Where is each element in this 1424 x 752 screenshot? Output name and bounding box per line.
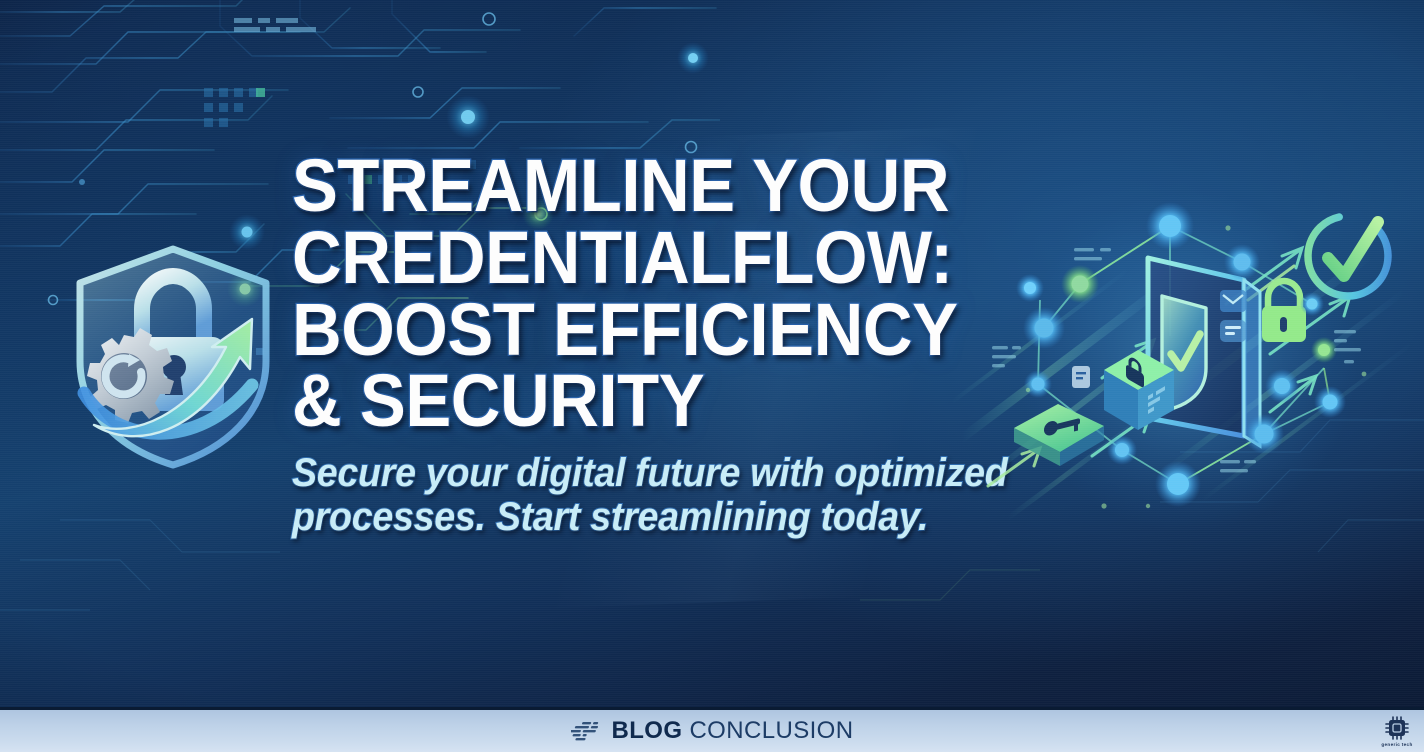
brand-logo[interactable]: generic tech <box>1378 711 1416 751</box>
footer-center: BLOGCONCLUSION <box>571 717 854 745</box>
footer-label-light: CONCLUSION <box>689 717 853 744</box>
grain-overlay <box>0 0 1424 752</box>
footer-label-bold: BLOG <box>612 717 683 744</box>
footer-label: BLOGCONCLUSION <box>612 717 854 745</box>
brand-name: generic tech <box>1381 742 1412 747</box>
blog-conclusion-banner: STREAMLINE YOUR CREDENTIALFLOW: BOOST EF… <box>0 0 1424 752</box>
footer-bar: BLOGCONCLUSION generic tech <box>0 707 1424 752</box>
speed-lines-icon <box>571 720 601 742</box>
microchip-icon <box>1384 715 1410 741</box>
